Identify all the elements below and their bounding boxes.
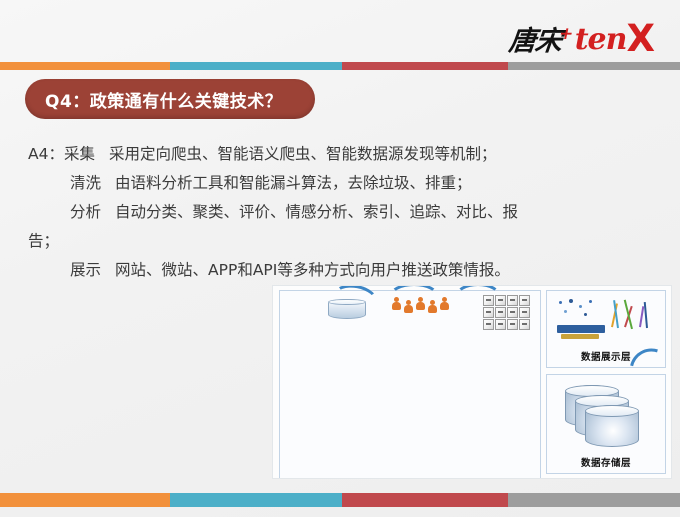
question-text: Q4：政策通有什么关键技术？ xyxy=(25,87,282,112)
color-segment-blue xyxy=(170,62,342,70)
brand-logo-chinese: 唐宋 xyxy=(508,28,563,55)
answer-body-collection: 采用定向爬虫、智能语义爬虫、智能数据源发现等机制； xyxy=(109,145,497,163)
color-segment-orange xyxy=(0,493,170,507)
storage-cylinder-icon xyxy=(585,405,639,447)
question-badge: Q4：政策通有什么关键技术？ xyxy=(25,79,315,119)
answer-label-analysis: 分析 xyxy=(70,198,101,227)
color-segment-red xyxy=(342,493,508,507)
answer-label-presentation: 展示 xyxy=(70,256,101,285)
color-segment-blue xyxy=(170,493,342,507)
diagram-right-panels: 数据展示层 数据存储层 xyxy=(546,290,666,474)
data-visualization-icon xyxy=(555,297,659,341)
brand-logo-english: tenX xyxy=(575,18,654,55)
bottom-color-bar xyxy=(0,493,680,507)
layer-body-application xyxy=(314,291,540,479)
diagram-layer-application: 应用层 xyxy=(279,290,541,479)
diagram-layer-stack: 应用层 xyxy=(279,290,541,474)
user-icon xyxy=(440,297,449,310)
answer-label-collection: A4：采集 xyxy=(28,140,95,169)
answer-line-presentation: 展示网站、微站、APP和API等多种方式向用户推送政策情报。 xyxy=(28,256,658,285)
brand-logo-ten: ten xyxy=(575,22,627,57)
answer-body-analysis: 自动分类、聚类、评价、情感分析、索引、追踪、对比、报 xyxy=(115,203,518,221)
brand-logo-superscript: + xyxy=(558,26,576,43)
answer-label-cleaning: 清洗 xyxy=(70,169,101,198)
answer-line-analysis-continuation: 告； xyxy=(28,227,658,256)
top-color-bar xyxy=(0,62,680,70)
color-segment-gray xyxy=(508,62,680,70)
answer-body-presentation: 网站、微站、APP和API等多种方式向用户推送政策情报。 xyxy=(115,261,510,279)
answer-body-analysis-cont: 告； xyxy=(28,232,59,250)
architecture-diagram: 应用层 xyxy=(272,285,672,479)
brand-logo: 唐宋 + tenX xyxy=(509,18,654,55)
answer-body-cleaning: 由语料分析工具和智能漏斗算法，去除垃圾、排重； xyxy=(115,174,472,192)
brand-logo-x: X xyxy=(626,17,654,60)
answer-line-cleaning: 清洗由语料分析工具和智能漏斗算法，去除垃圾、排重； xyxy=(28,169,658,198)
slide-canvas: 唐宋 + tenX Q4：政策通有什么关键技术？ A4：采集采用定向爬虫、智能语… xyxy=(0,0,680,517)
color-segment-red xyxy=(342,62,508,70)
layer-label-application: 应用层 xyxy=(280,291,314,479)
answer-block: A4：采集采用定向爬虫、智能语义爬虫、智能数据源发现等机制； 清洗由语料分析工具… xyxy=(28,140,658,285)
color-segment-orange xyxy=(0,62,170,70)
wordcloud-accent xyxy=(561,334,599,339)
social-media-wordcloud xyxy=(557,325,605,333)
color-segment-gray xyxy=(508,493,680,507)
answer-line-collection: A4：采集采用定向爬虫、智能语义爬虫、智能数据源发现等机制； xyxy=(28,140,658,169)
panel-label-storage: 数据存储层 xyxy=(547,455,665,469)
answer-line-analysis: 分析自动分类、聚类、评价、情感分析、索引、追踪、对比、报 xyxy=(28,198,658,227)
